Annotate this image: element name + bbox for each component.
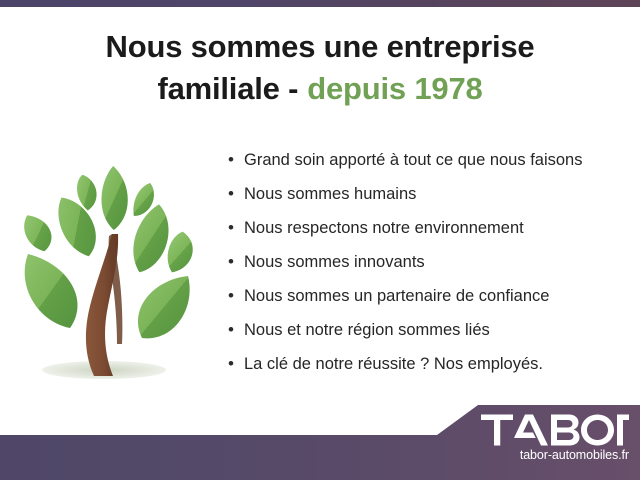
page-title-line-1: Nous sommes une entreprise bbox=[0, 26, 640, 68]
brand-logo[interactable]: tabor-automobiles.fr bbox=[481, 414, 631, 466]
leaf-far-right-small bbox=[164, 230, 196, 276]
leaf-lower-left bbox=[25, 254, 78, 328]
list-item: • La clé de notre réussite ? Nos employé… bbox=[228, 352, 628, 386]
list-item-label: Nous sommes humains bbox=[244, 182, 416, 206]
list-item: • Nous respectons notre environnement bbox=[228, 216, 628, 250]
bullet-icon: • bbox=[228, 352, 244, 376]
bullet-icon: • bbox=[228, 318, 244, 342]
list-item-label: Nous et notre région sommes liés bbox=[244, 318, 490, 342]
list-item-label: La clé de notre réussite ? Nos employés. bbox=[244, 352, 543, 376]
tree-illustration bbox=[8, 148, 213, 388]
bullet-icon: • bbox=[228, 284, 244, 308]
slide-canvas: Nous sommes une entreprise familiale -de… bbox=[0, 0, 640, 480]
leaf-far-left-small bbox=[22, 212, 53, 253]
list-item: • Nous sommes un partenaire de confiance bbox=[228, 284, 628, 318]
list-item-label: Grand soin apporté à tout ce que nous fa… bbox=[244, 148, 582, 172]
bullet-icon: • bbox=[228, 148, 244, 172]
list-item: • Nous sommes humains bbox=[228, 182, 628, 216]
list-item-label: Nous sommes innovants bbox=[244, 250, 425, 274]
page-title-line-2: familiale -depuis 1978 bbox=[0, 68, 640, 110]
leaf-lower-right bbox=[138, 276, 190, 338]
list-item: • Grand soin apporté à tout ce que nous … bbox=[228, 148, 628, 182]
top-accent-bar bbox=[0, 0, 640, 7]
leaf-top-center bbox=[100, 166, 129, 231]
list-item: • Nous et notre région sommes liés bbox=[228, 318, 628, 352]
benefits-list: • Grand soin apporté à tout ce que nous … bbox=[228, 148, 628, 386]
list-item-label: Nous respectons notre environnement bbox=[244, 216, 524, 240]
brand-url[interactable]: tabor-automobiles.fr bbox=[481, 448, 631, 462]
tabor-wordmark bbox=[481, 415, 629, 446]
bullet-icon: • bbox=[228, 250, 244, 274]
page-title-accent: depuis 1978 bbox=[307, 71, 482, 106]
bullet-icon: • bbox=[228, 216, 244, 240]
list-item: • Nous sommes innovants bbox=[228, 250, 628, 284]
page-title: Nous sommes une entreprise familiale -de… bbox=[0, 26, 640, 110]
page-title-line-2-plain: familiale - bbox=[157, 71, 298, 106]
list-item-label: Nous sommes un partenaire de confiance bbox=[244, 284, 549, 308]
bullet-icon: • bbox=[228, 182, 244, 206]
